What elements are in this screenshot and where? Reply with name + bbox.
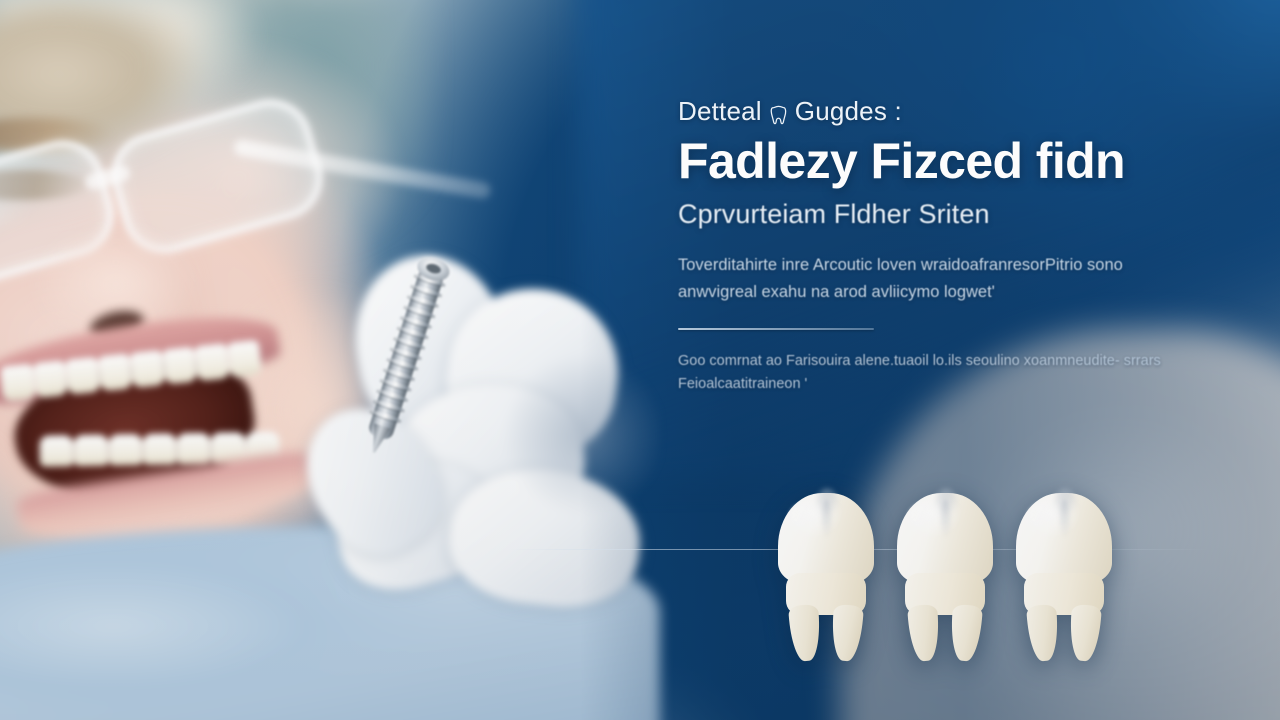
tooth [0, 364, 35, 401]
hero-copy-block: Detteal Gugdes : Fadlezy Fizced fidn Cpr… [678, 96, 1206, 396]
tooth [65, 357, 100, 394]
tooth [40, 436, 74, 467]
molar-tooth-3 [1016, 493, 1112, 658]
tooth [108, 434, 142, 465]
subtitle: Cprvurteiam Fldher Sriten [678, 199, 1206, 230]
tooth-crown [1016, 493, 1112, 585]
kicker-eyebrow: Detteal Gugdes : [678, 96, 1206, 127]
tooth [177, 433, 211, 464]
body-paragraph: Toverditahirte inre Arcoutic loven wraid… [678, 252, 1188, 305]
tooth-root [949, 604, 983, 662]
tooth-root [788, 604, 822, 662]
tooth-highlight [790, 503, 824, 529]
tooth-root [907, 604, 941, 662]
tooth-highlight [909, 503, 943, 529]
tooth [227, 340, 262, 377]
teeth-illustration-row [778, 493, 1112, 658]
tooth-root [830, 604, 864, 662]
caption-text: Goo comrnat ao Farisouira alene.tuaoil l… [678, 350, 1198, 396]
tooth [143, 434, 177, 465]
tooth [97, 354, 132, 391]
page-title: Fadlezy Fizced fidn [678, 135, 1206, 187]
hero-banner: Detteal Gugdes : Fadlezy Fizced fidn Cpr… [0, 0, 1280, 720]
tooth-crown [778, 493, 874, 585]
tooth-highlight [1028, 503, 1062, 529]
tooth-root [1068, 604, 1102, 662]
molar-tooth-2 [897, 493, 993, 658]
molar-tooth-1 [778, 493, 874, 658]
tooth-icon [770, 102, 787, 123]
tooth [33, 361, 68, 398]
kicker-text-after: Gugdes : [795, 96, 902, 127]
tooth-root [1026, 604, 1060, 662]
divider-line [678, 328, 874, 330]
tooth [130, 350, 165, 387]
kicker-text-before: Detteal [678, 96, 762, 127]
tooth [74, 435, 108, 466]
tooth [162, 347, 197, 384]
tooth-crown [897, 493, 993, 585]
tooth [194, 344, 229, 381]
